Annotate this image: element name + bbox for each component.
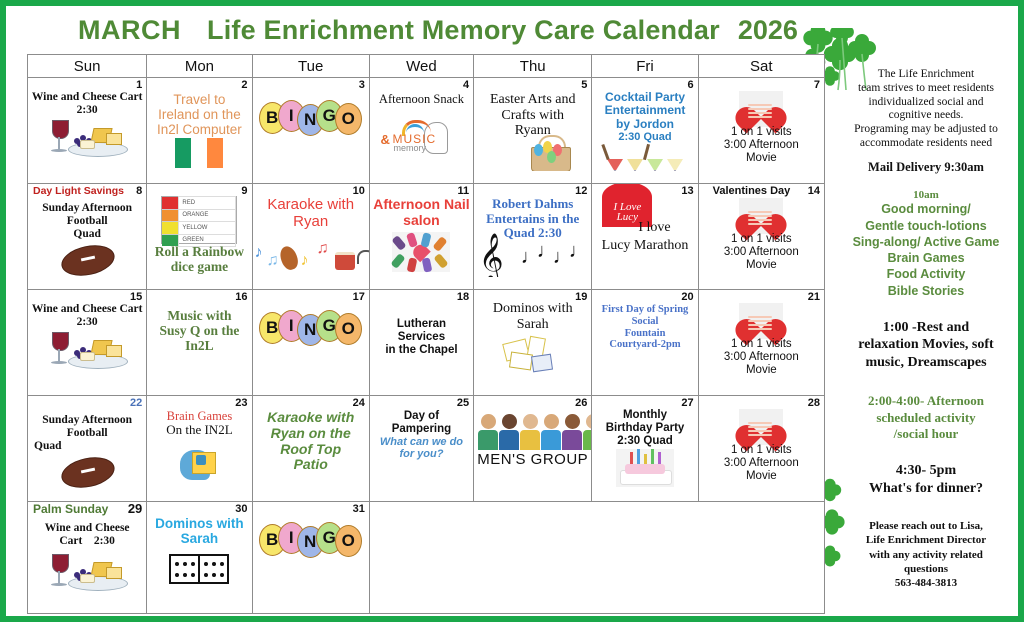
day-number: 29 [128,503,142,515]
mail-delivery-note: Mail Delivery 9:30am [830,160,1022,176]
day-number: 4 [463,79,469,91]
heart-hands-icon [739,91,783,127]
day-number: 20 [681,291,693,303]
dominoes-cards-icon [502,337,564,375]
event-text: Quad [30,440,144,453]
music-and-memory-icon: &MUSICmemory [380,120,462,154]
event-text: First Day of Spring [594,304,695,316]
event-text: Sunday Afternoon [30,414,144,427]
event-text: Wine and Cheese Cart [30,91,144,104]
heart-hands-icon [739,303,783,339]
calendar-cell[interactable]: 17 BINGO [252,290,369,396]
day-number: 13 [681,185,693,197]
event-text: In2L [149,338,249,353]
event-text: Roof Top [255,442,367,458]
day-number: 21 [808,291,820,303]
event-text: Monthly [594,409,695,422]
calendar-cell[interactable]: 12 Robert Dahms Entertains in the Quad 2… [474,184,592,290]
calendar-empty-cell [369,502,824,614]
event-text: Pampering [372,423,471,436]
calendar-week-row: 22 Sunday Afternoon Football Quad 23 Bra… [28,396,825,502]
event-text: Quad [30,228,144,241]
weekday-fri: Fri [592,55,698,78]
weekday-mon: Mon [147,55,252,78]
event-text: 1 on 1 visits [701,126,822,139]
heart-hands-icon [739,409,783,445]
event-text: Afternoon Snack [372,92,471,106]
day-holiday-label: Valentines Day [713,185,791,197]
event-text: 2:30 [30,316,144,329]
contact-line-1: Please reach out to Lisa, [830,519,1022,533]
day-number: 26 [575,397,587,409]
wine-and-cheese-icon [44,330,130,370]
event-text: Easter Arts and [476,92,589,108]
calendar-cell[interactable]: 9 RED ORANGE YELLOW GREEN Roll a Rainbow… [147,184,252,290]
day-number: 8 [136,185,142,197]
calendar-week-row: Day Light Savings 8 Sunday Afternoon Foo… [28,184,825,290]
morning-item: Bible Stories [830,283,1022,299]
morning-time: 10am [830,189,1022,201]
calendar-grid: Sun Mon Tue Wed Thu Fri Sat 1 Wine and C… [27,54,825,614]
event-text: Karaoke with [255,410,367,426]
weekday-wed: Wed [369,55,473,78]
event-text: Brain Games [149,409,249,423]
bingo-icon: BINGO [259,100,363,140]
calendar-page: MARCH Life Enrichment Memory Care Calend… [0,0,1024,622]
calendar-cell[interactable]: 20 First Day of Spring Social Fountain C… [592,290,698,396]
event-text: I love [638,220,695,236]
day-holiday-label: Day Light Savings [33,185,124,197]
calendar-cell[interactable]: 23 Brain Games On the IN2L [147,396,252,502]
morning-schedule: 10am Good morning/ Gentle touch-lotions … [830,189,1022,299]
bingo-icon: BINGO [259,310,363,350]
mission-line-3: individualized social and [830,96,1022,110]
morning-item: Sing-along/ Active Game [830,234,1022,250]
event-text: MEN'S GROUP [476,452,589,469]
mission-line-4: cognitive needs. [830,109,1022,123]
info-sidebar: The Life Enrichment team strives to meet… [830,68,1022,600]
calendar-title: Life Enrichment Memory Care Calendar [207,15,720,46]
day-holiday-label: Palm Sunday [33,503,108,515]
event-text: Sunday Afternoon [30,202,144,215]
event-text: Music with [149,308,249,323]
event-text: Sarah [149,531,249,546]
weekday-tue: Tue [252,55,369,78]
treble-clef-icon: 𝄞 ♩ ♩ ♩ ♩ [479,236,587,276]
calendar-week-row: 1 Wine and Cheese Cart 2:30 2 Travel to … [28,78,825,184]
event-text: Football [30,427,144,440]
dinner-line-1: 4:30- 5pm [830,462,1022,480]
event-text: Crafts with [476,108,589,124]
day-number: 1 [136,79,142,91]
calendar-cell[interactable]: 31 BINGO [252,502,369,614]
event-text: Susy Q on the [149,323,249,338]
irish-flag-icon [175,138,223,168]
bingo-icon: BINGO [259,522,363,562]
event-text: for you? [372,448,471,460]
birthday-cake-icon [616,449,674,487]
mail-delivery-text: Mail Delivery 9:30am [830,160,1022,176]
event-text: Entertainment [594,104,695,117]
event-text: in the Chapel [372,344,471,357]
event-text: Wine and Cheese [30,522,144,535]
calendar-cell[interactable]: 16 Music with Susy Q on the In2L [147,290,252,396]
event-text: Ryan [255,214,367,231]
event-text: dice game [149,259,249,274]
event-text: 2:30 Quad [594,435,695,448]
day-number: 18 [457,291,469,303]
rest-line-1: 1:00 -Rest and [830,319,1022,337]
event-text: Social [594,316,695,328]
mens-group-icon [474,410,591,452]
day-number: 30 [235,503,247,515]
domino-tile-icon [169,554,229,584]
contact-line-3: with any activity related [830,548,1022,562]
calendar-cell[interactable]: 15 Wine and Cheese Cart 2:30 [28,290,147,396]
heart-hands-icon [739,198,783,234]
year-title: 2026 [738,15,798,46]
calendar-cell[interactable]: 7 1 on 1 visits 3:00 Afternoon Movie [698,78,824,184]
afternoon-line-3: /social hour [830,426,1022,442]
day-number: 28 [808,397,820,409]
contact-phone: 563-484-3813 [830,576,1022,590]
contact-info: Please reach out to Lisa, Life Enrichmen… [830,519,1022,590]
event-text: On the IN2L [149,423,249,438]
event-text: Ryan on the [255,426,367,442]
wine-and-cheese-icon [44,552,130,592]
event-text: Ireland on the [149,107,249,122]
event-text: Roll a Rainbow [149,244,249,259]
rainbow-dice-icon: RED ORANGE YELLOW GREEN [161,196,237,244]
calendar-cell[interactable]: Valentines Day 14 1 on 1 visits 3:00 Aft… [698,184,824,290]
event-text: Afternoon Nail [372,197,471,213]
calendar-cell[interactable]: 28 1 on 1 visits 3:00 Afternoon Movie [698,396,824,502]
rest-line-2: relaxation Movies, soft [830,336,1022,354]
calendar-cell[interactable]: 21 1 on 1 visits 3:00 Afternoon Movie [698,290,824,396]
afternoon-line-2: scheduled activity [830,410,1022,426]
month-title: MARCH [78,15,181,46]
morning-item: Brain Games [830,250,1022,266]
event-text: What can we do [372,436,471,448]
calendar-cell[interactable]: 19 Dominos with Sarah [474,290,592,396]
cocktails-icon [601,140,689,171]
calendar-cell[interactable]: 5 Easter Arts and Crafts with Ryann [474,78,592,184]
event-text: Wine and Cheese Cart [30,303,144,316]
weekday-thu: Thu [474,55,592,78]
event-text: 1 on 1 visits [701,233,822,246]
day-number: 23 [235,397,247,409]
calendar-cell[interactable]: 11 Afternoon Nail salon [369,184,473,290]
day-number: 2 [241,79,247,91]
calendar-cell[interactable]: 24 Karaoke with Ryan on the Roof Top Pat… [252,396,369,502]
event-text: 3:00 Afternoon [701,351,822,364]
calendar-cell[interactable]: 22 Sunday Afternoon Football Quad [28,396,147,502]
day-number: 14 [808,185,820,197]
day-number: 12 [575,185,587,197]
calendar-cell[interactable]: 3 BINGO [252,78,369,184]
calendar-cell[interactable]: 13 I LoveLucy I love Lucy Marathon [592,184,698,290]
calendar-cell[interactable]: 25 Day of Pampering What can we do for y… [369,396,473,502]
day-number: 7 [814,79,820,91]
rest-schedule: 1:00 -Rest and relaxation Movies, soft m… [830,319,1022,372]
contact-line-2: Life Enrichment Director [830,533,1022,547]
mission-line-1: The Life Enrichment [830,68,1022,82]
day-number: 5 [581,79,587,91]
rest-line-3: music, Dreamscapes [830,354,1022,372]
event-text: Sarah [476,317,589,333]
event-text: Lutheran Services [372,318,471,344]
event-text: by Jordon [594,118,695,131]
wine-and-cheese-icon [44,118,130,158]
contact-line-4: questions [830,562,1022,576]
event-text: 1 on 1 visits [701,444,822,457]
morning-item: Good morning/ [830,201,1022,217]
calendar-cell[interactable]: Palm Sunday 29 Wine and Cheese Cart 2:30 [28,502,147,614]
calendar-cell[interactable]: 27 Monthly Birthday Party 2:30 Quad [592,396,698,502]
event-text: 3:00 Afternoon [701,246,822,259]
calendar-cell[interactable]: Day Light Savings 8 Sunday Afternoon Foo… [28,184,147,290]
day-number: 31 [353,503,365,515]
event-text: Fountain [594,328,695,340]
calendar-cell[interactable]: 6 Cocktail Party Entertainment by Jordon… [592,78,698,184]
weekday-sun: Sun [28,55,147,78]
event-text: Movie [701,152,822,165]
calendar-cell[interactable]: 18 Lutheran Services in the Chapel [369,290,473,396]
afternoon-line-1: 2:00-4:00- Afternoon [830,393,1022,409]
day-number: 10 [353,185,365,197]
event-text: Cart 2:30 [30,535,144,548]
morning-item: Food Activity [830,266,1022,282]
event-text: Day of [372,410,471,423]
day-number: 15 [130,291,142,303]
mission-line-5: Programing may be adjusted to [830,123,1022,137]
day-number: 25 [457,397,469,409]
event-text: Travel to [149,92,249,107]
day-number: 24 [353,397,365,409]
calendar-cell[interactable]: 1 Wine and Cheese Cart 2:30 [28,78,147,184]
day-number: 27 [681,397,693,409]
afternoon-schedule: 2:00-4:00- Afternoon scheduled activity … [830,393,1022,442]
event-text: Lucy Marathon [594,238,695,254]
event-text: salon [372,213,471,229]
event-text: 1 on 1 visits [701,338,822,351]
event-text: Cocktail Party [594,91,695,104]
event-text: Karaoke with [255,197,367,214]
calendar-cell[interactable]: 2 Travel to Ireland on the In2l Computer [147,78,252,184]
mission-statement: The Life Enrichment team strives to meet… [830,68,1022,151]
event-text: Football [30,215,144,228]
event-text: Birthday Party [594,422,695,435]
weekday-sat: Sat [698,55,824,78]
mission-line-6: accommodate residents need [830,137,1022,151]
dinner-schedule: 4:30- 5pm What's for dinner? [830,462,1022,497]
calendar-cell[interactable]: 4 Afternoon Snack &MUSICmemory [369,78,473,184]
calendar-week-row: 15 Wine and Cheese Cart 2:30 16 Music wi… [28,290,825,396]
event-text: Movie [701,364,822,377]
event-text: Dominos with [149,516,249,531]
mission-line-2: team strives to meet residents [830,82,1022,96]
easter-basket-icon [527,131,573,171]
nail-salon-icon [392,232,450,272]
calendar-cell[interactable]: 10 Karaoke with Ryan ♪ ♫ ♪ ♫ [252,184,369,290]
event-text: Movie [701,470,822,483]
morning-item: Gentle touch-lotions [830,218,1022,234]
event-text: In2l Computer [149,122,249,137]
day-number: 17 [353,291,365,303]
event-text: Movie [701,259,822,272]
event-text: Courtyard-2pm [594,339,695,351]
event-text: Entertains in the [476,212,589,227]
weekday-header-row: Sun Mon Tue Wed Thu Fri Sat [28,55,825,78]
day-number: 16 [235,291,247,303]
event-text: Robert Dahms [476,197,589,212]
calendar-cell[interactable]: 26 MEN'S GROUP [474,396,592,502]
event-text: Patio [255,457,367,473]
day-number: 22 [130,397,142,409]
event-text: 3:00 Afternoon [701,457,822,470]
calendar-week-row: Palm Sunday 29 Wine and Cheese Cart 2:30… [28,502,825,614]
event-text: 3:00 Afternoon [701,139,822,152]
music-instruments-icon: ♪ ♫ ♪ ♫ [253,238,369,274]
football-icon [61,246,113,273]
event-text: Dominos with [476,301,589,317]
calendar-cell[interactable]: 30 Dominos with Sarah [147,502,252,614]
event-text: 2:30 [30,104,144,117]
day-number: 3 [359,79,365,91]
day-number: 6 [688,79,694,91]
dinner-line-2: What's for dinner? [830,480,1022,498]
football-icon [61,458,113,485]
brain-puzzle-icon [178,446,220,482]
calendar-header: MARCH Life Enrichment Memory Care Calend… [6,6,1018,54]
